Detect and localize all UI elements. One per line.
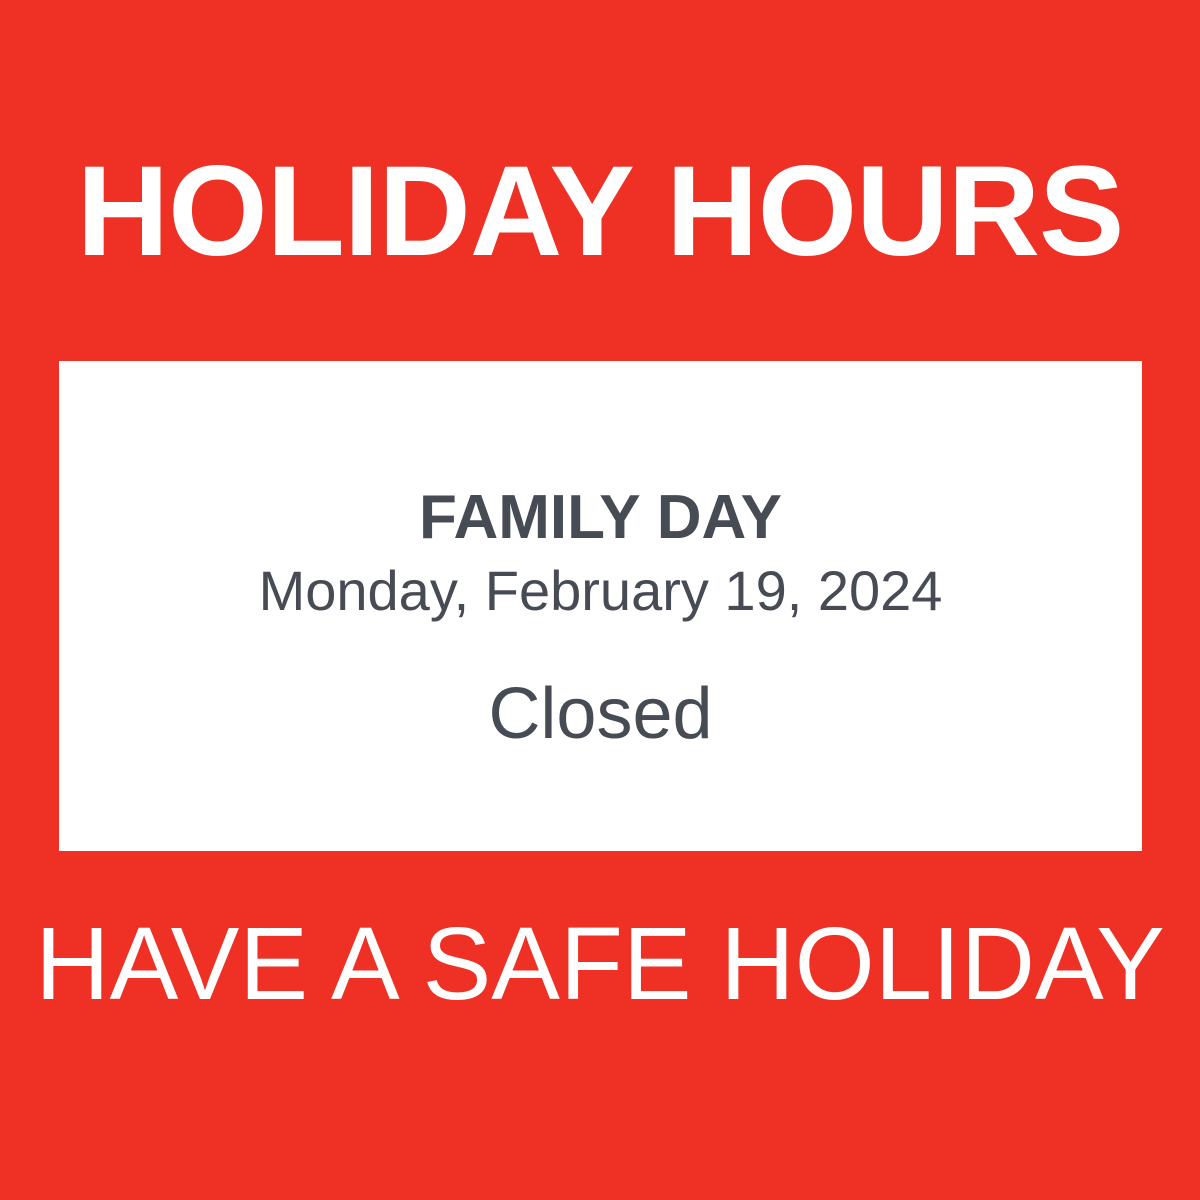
holiday-date: Monday, February 19, 2024 — [259, 560, 943, 623]
holiday-hours-poster: HOLIDAY HOURS FAMILY DAY Monday, Februar… — [0, 0, 1200, 1200]
holiday-name: FAMILY DAY — [419, 483, 782, 552]
page-title: HOLIDAY HOURS — [0, 148, 1200, 276]
holiday-notice-card: FAMILY DAY Monday, February 19, 2024 Clo… — [59, 361, 1142, 851]
footer-message: HAVE A SAFE HOLIDAY — [0, 912, 1200, 1015]
status-badge: Closed — [488, 675, 712, 754]
